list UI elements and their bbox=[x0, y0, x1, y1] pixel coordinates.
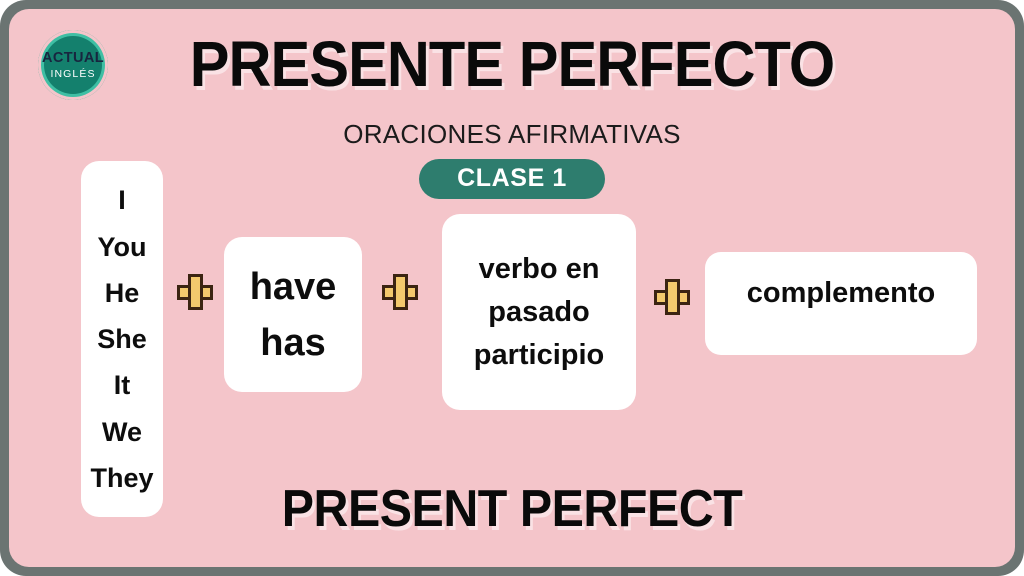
plus-icon bbox=[385, 277, 415, 307]
plus-icon bbox=[180, 277, 210, 307]
formula-box-past-participle: verbo en pasado participio bbox=[442, 214, 636, 410]
slide-canvas: ACTUAL INGLÉS PRESENTE PERFECTO ORACIONE… bbox=[9, 9, 1015, 567]
past-participle-line: verbo en bbox=[479, 248, 600, 291]
pronoun-item: He bbox=[81, 278, 163, 308]
auxiliary-verb-item: has bbox=[260, 315, 325, 371]
pronoun-item: It bbox=[81, 370, 163, 400]
page-title-spanish: PRESENTE PERFECTO bbox=[44, 30, 980, 98]
past-participle-line: pasado bbox=[488, 291, 590, 334]
auxiliary-verb-item: have bbox=[250, 259, 337, 315]
pronoun-item: You bbox=[81, 232, 163, 262]
slide-frame: ACTUAL INGLÉS PRESENTE PERFECTO ORACIONE… bbox=[0, 0, 1024, 576]
pronoun-item: She bbox=[81, 324, 163, 354]
past-participle-line: participio bbox=[474, 334, 605, 377]
pronoun-item: We bbox=[81, 417, 163, 447]
page-title-english: PRESENT PERFECT bbox=[44, 480, 980, 538]
plus-icon-center bbox=[668, 293, 677, 302]
pronoun-item: I bbox=[81, 185, 163, 215]
lesson-badge: CLASE 1 bbox=[419, 159, 605, 199]
plus-icon-center bbox=[191, 288, 200, 297]
complement-label: complemento bbox=[747, 276, 936, 310]
plus-icon bbox=[657, 282, 687, 312]
formula-box-complement: complemento bbox=[705, 252, 977, 355]
plus-icon-center bbox=[396, 288, 405, 297]
page-subtitle-spanish: ORACIONES AFIRMATIVAS bbox=[9, 119, 1015, 149]
formula-box-subject-pronouns: I You He She It We They bbox=[81, 161, 163, 517]
formula-box-auxiliary-verb: have has bbox=[224, 237, 362, 392]
